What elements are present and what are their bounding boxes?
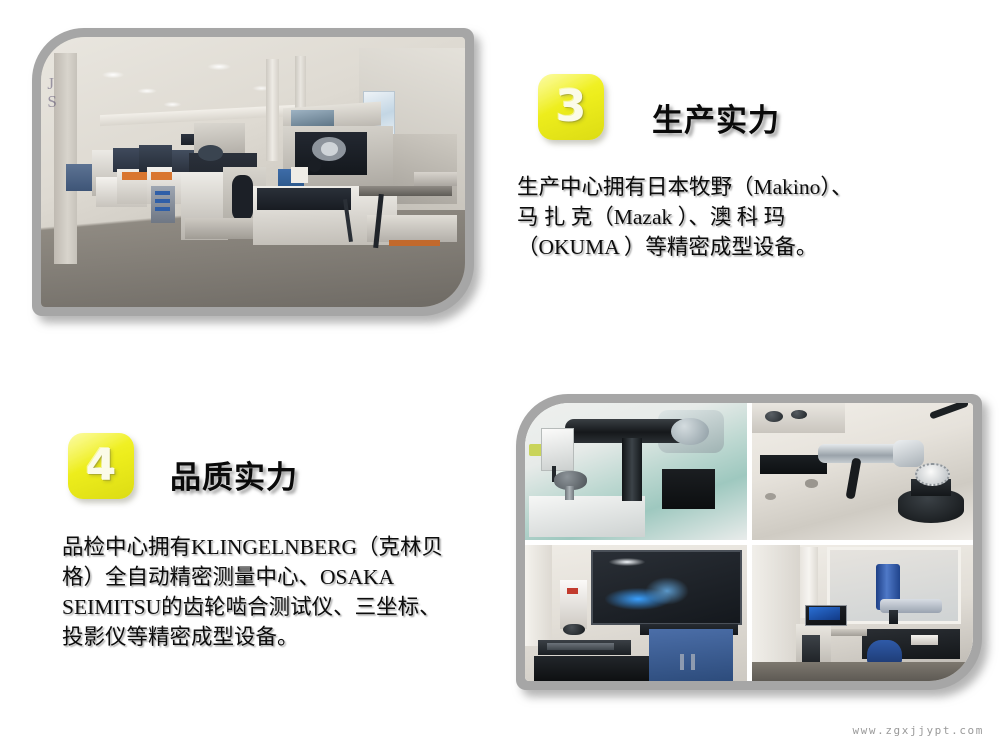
slide-canvas: JS 3 生产实力 生产中心拥有日本牧野（Makino）、 马 扎 克（Maza… <box>0 0 1000 750</box>
section-badge-number: 4 <box>86 444 117 488</box>
profile-projector-with-blue-display <box>525 545 747 682</box>
body-line: 品检中心拥有KLINGELNBERG（克林贝 <box>62 532 512 562</box>
production-workshop-photo-frame: JS <box>32 28 474 316</box>
quality-inspection-photo-frame <box>516 394 982 690</box>
section-badge-4: 4 <box>68 433 134 499</box>
workshop-scene: JS <box>41 37 465 307</box>
quality-inspection-photo-grid <box>525 403 973 681</box>
gear-meshing-tester-spindle <box>752 403 974 540</box>
body-line: 马 扎 克（Mazak ）、澳 科 玛 <box>517 202 957 232</box>
section-badge-3: 3 <box>538 74 604 140</box>
body-line: 格）全自动精密测量中心、OSAKA <box>62 562 512 592</box>
body-line: 投影仪等精密成型设备。 <box>62 622 512 652</box>
section-heading-production: 生产实力 <box>652 95 780 140</box>
photo-watermark: JS <box>47 75 55 111</box>
production-workshop-photo: JS <box>41 37 465 307</box>
body-line: 生产中心拥有日本牧野（Makino）、 <box>517 172 957 202</box>
coordinate-measuring-machine-blue <box>752 545 974 682</box>
body-line: SEIMITSU的齿轮啮合测试仪、三坐标、 <box>62 592 512 622</box>
section-heading-quality: 品质实力 <box>170 452 298 497</box>
section-badge-number: 3 <box>556 85 587 129</box>
section-body-quality: 品检中心拥有KLINGELNBERG（克林贝 格）全自动精密测量中心、OSAKA… <box>62 532 512 652</box>
body-line: （OKUMA ）等精密成型设备。 <box>517 232 957 262</box>
footer-watermark-url: www.zgxjjypt.com <box>852 724 984 737</box>
section-body-production: 生产中心拥有日本牧野（Makino）、 马 扎 克（Mazak ）、澳 科 玛 … <box>517 172 957 262</box>
cmm-probe-measuring-gear <box>525 403 747 540</box>
